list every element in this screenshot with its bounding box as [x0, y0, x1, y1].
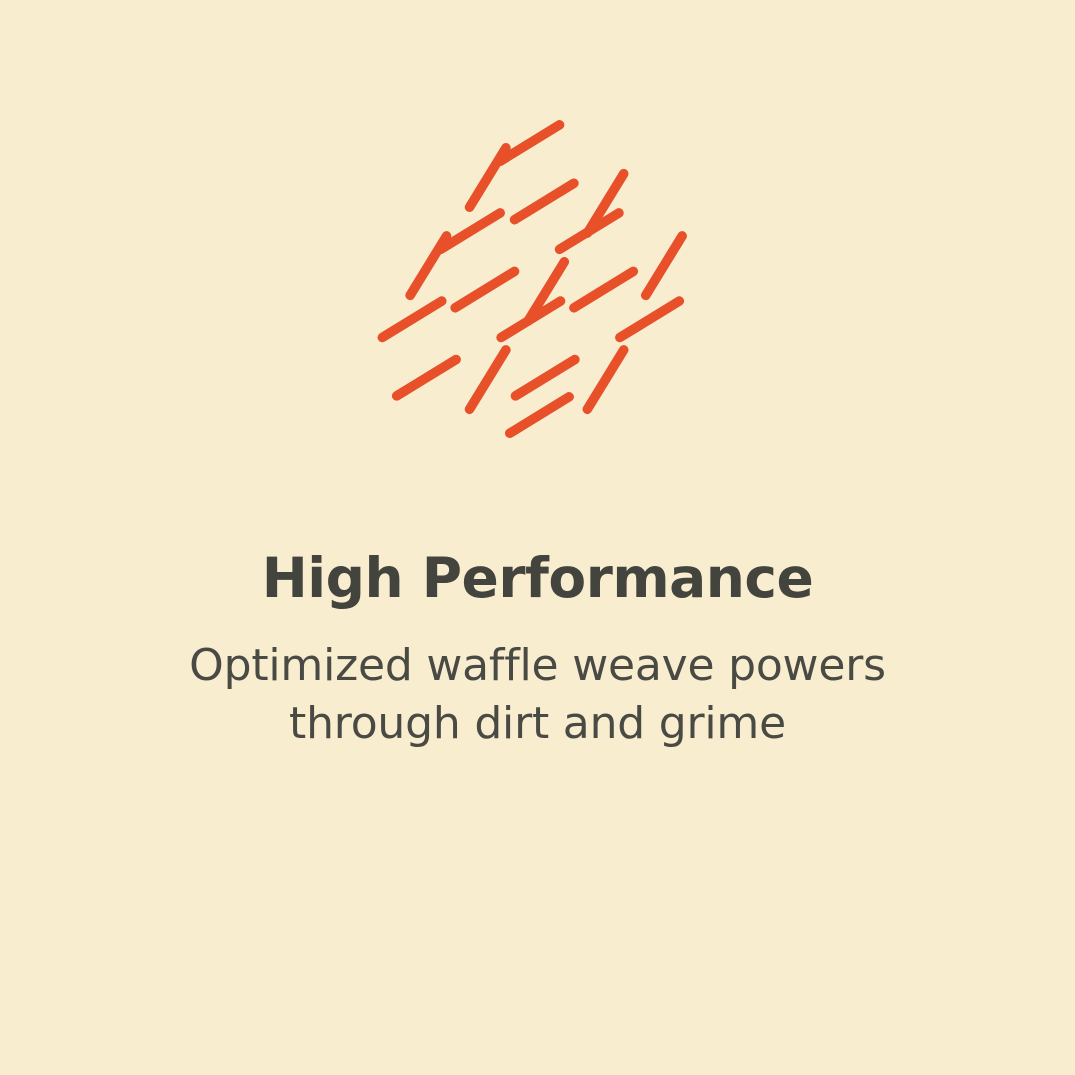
feature-headline: High Performance [60, 548, 1015, 609]
feature-card: High Performance Optimized waffle weave … [0, 0, 1075, 1075]
weave-stroke-group [382, 125, 682, 433]
feature-text-block: High Performance Optimized waffle weave … [0, 548, 1075, 754]
waffle-weave-pattern-icon [368, 110, 708, 450]
weave-stroke [559, 213, 618, 249]
feature-subtext: Optimized waffle weave powers through di… [60, 609, 1015, 755]
weave-stroke [573, 271, 632, 307]
weave-stroke [469, 350, 505, 409]
feature-icon-container [0, 0, 1075, 560]
feature-subtext-line-1: Optimized waffle weave powers [60, 637, 1015, 696]
weave-stroke [645, 236, 681, 295]
weave-stroke [587, 350, 623, 409]
weave-stroke [515, 359, 574, 395]
weave-stroke [500, 125, 559, 161]
weave-stroke [469, 148, 505, 207]
weave-stroke [501, 301, 560, 337]
feature-subtext-line-2: through dirt and grime [60, 695, 1015, 754]
weave-stroke [514, 183, 573, 219]
weave-stroke [410, 236, 446, 295]
weave-stroke [619, 301, 678, 337]
weave-stroke [382, 301, 441, 337]
weave-stroke [509, 397, 568, 433]
weave-stroke [527, 262, 563, 321]
weave-stroke [396, 359, 455, 395]
weave-stroke [440, 213, 499, 249]
weave-stroke [587, 174, 623, 233]
weave-stroke [455, 271, 514, 307]
